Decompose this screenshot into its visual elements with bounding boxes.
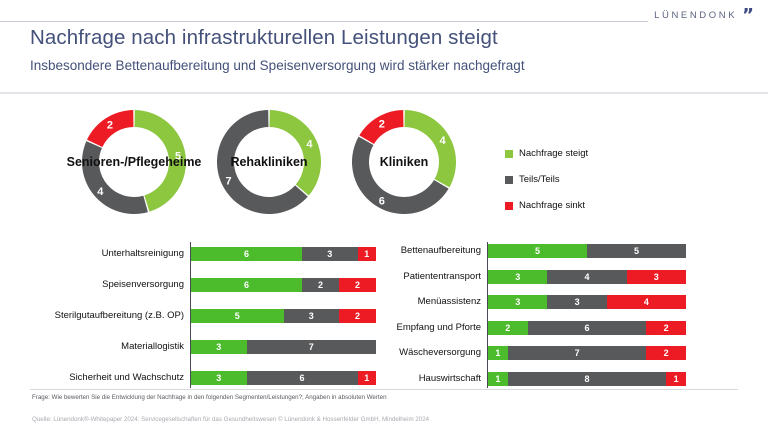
bar-segment: 1 <box>488 346 508 360</box>
legend-item-teils-teils: Teils/Teils <box>505 174 588 185</box>
bar-segment: 3 <box>284 309 340 323</box>
bar-row: 172 <box>488 346 686 360</box>
bar-category-label: Bettenaufbereitung <box>386 244 481 258</box>
donut-chart-rehakliniken: 47 Rehakliniken <box>215 108 323 216</box>
bar-segment: 2 <box>339 278 376 292</box>
bar-segment: 2 <box>339 309 376 323</box>
bar-segment: 3 <box>191 340 247 354</box>
bar-segment: 3 <box>191 371 247 385</box>
bar-row: 361 <box>191 371 376 385</box>
bar-row: 55 <box>488 244 686 258</box>
bar-category-label: Empfang und Pforte <box>386 321 481 335</box>
bar-segment: 6 <box>191 278 302 292</box>
page-title: Nachfrage nach infrastrukturellen Leistu… <box>30 26 498 50</box>
donut-chart-kliniken: 462 Kliniken <box>350 108 458 216</box>
bar-row: 334 <box>488 295 686 309</box>
bar-segment: 7 <box>247 340 377 354</box>
donut-slice-value: 7 <box>225 175 231 187</box>
bar-segment: 2 <box>646 321 686 335</box>
bar-category-label: Hauswirtschaft <box>386 372 481 386</box>
donut-slice-value: 6 <box>379 196 385 208</box>
page-subtitle: Insbesondere Bettenaufbereitung und Spei… <box>30 58 525 73</box>
legend-item-nachfrage-sinkt: Nachfrage sinkt <box>505 200 588 211</box>
bar-segment: 3 <box>488 295 547 309</box>
bar-segment: 4 <box>547 270 626 284</box>
donut-slice-0 <box>405 110 456 187</box>
donut-slice-value: 4 <box>439 135 446 147</box>
footnote-divider <box>30 389 738 390</box>
logo-wordmark: LÜNENDONK <box>654 10 737 21</box>
donut-slice-1 <box>352 137 449 214</box>
bar-chart-left: Unterhaltsreinigung631Speisenversorgung6… <box>0 240 386 390</box>
legend-label-nachfrage-steigt: Nachfrage steigt <box>519 148 588 159</box>
bar-category-label: Materiallogistik <box>0 340 184 354</box>
bar-segment: 2 <box>302 278 339 292</box>
bar-category-label: Patiententransport <box>386 270 481 284</box>
legend-swatch-green <box>505 150 513 158</box>
bar-category-label: Unterhaltsreinigung <box>0 247 184 261</box>
bar-row: 262 <box>488 321 686 335</box>
bar-segment: 2 <box>646 346 686 360</box>
bar-segment: 1 <box>358 371 377 385</box>
legend-swatch-gray <box>505 176 513 184</box>
bar-row: 343 <box>488 270 686 284</box>
donut-slice-value: 5 <box>175 151 181 163</box>
bar-row: 37 <box>191 340 376 354</box>
header-divider <box>0 21 648 22</box>
bar-chart-right: Bettenaufbereitung55Patiententransport34… <box>386 240 768 390</box>
bar-segment: 1 <box>358 247 377 261</box>
donut-chart-senioren-pflegeheime: 542 Senioren-/Pflegeheime <box>80 108 188 216</box>
bar-segment: 5 <box>488 244 587 258</box>
bar-segment: 5 <box>587 244 686 258</box>
bar-category-label: Speisenversorgung <box>0 278 184 292</box>
bar-segment: 7 <box>508 346 647 360</box>
bar-segment: 3 <box>302 247 358 261</box>
bar-category-label: Sterilgutaufbereitung (z.B. OP) <box>0 309 184 323</box>
bar-segment: 3 <box>488 270 547 284</box>
bar-segment: 1 <box>666 372 686 386</box>
bar-segment: 6 <box>191 247 302 261</box>
bar-segment: 8 <box>508 372 666 386</box>
donut-slice-value: 4 <box>306 139 313 151</box>
bar-row: 631 <box>191 247 376 261</box>
lunendonk-logo: LÜNENDONK ” <box>654 10 754 21</box>
bar-row: 622 <box>191 278 376 292</box>
footnote-question: Frage: Wie bewerten Sie die Entwicklung … <box>32 394 387 401</box>
bar-segment: 5 <box>191 309 284 323</box>
subtitle-divider <box>0 92 768 94</box>
chart-legend: Nachfrage steigt Teils/Teils Nachfrage s… <box>505 148 588 226</box>
bar-segment: 4 <box>607 295 686 309</box>
donut-slice-value: 2 <box>107 120 113 132</box>
donut-slice-1 <box>82 141 148 214</box>
bar-segment: 3 <box>547 295 606 309</box>
bar-segment: 3 <box>627 270 686 284</box>
bar-row: 181 <box>488 372 686 386</box>
bar-segment: 1 <box>488 372 508 386</box>
donut-chart-group: 542 Senioren-/Pflegeheime 47 Rehaklinike… <box>0 108 500 220</box>
donut-slice-value: 2 <box>379 118 385 130</box>
legend-label-nachfrage-sinkt: Nachfrage sinkt <box>519 200 585 211</box>
legend-item-nachfrage-steigt: Nachfrage steigt <box>505 148 588 159</box>
legend-swatch-red <box>505 202 513 210</box>
donut-slice-0 <box>270 110 321 195</box>
bar-segment: 2 <box>488 321 528 335</box>
bar-category-label: Menüassistenz <box>386 295 481 309</box>
footnote-source: Quelle: Lünendonk®-Whitepaper 2024: Serv… <box>32 416 429 423</box>
axis-line-right <box>487 242 488 388</box>
bar-row: 532 <box>191 309 376 323</box>
bar-segment: 6 <box>247 371 358 385</box>
bar-category-label: Wäscheversorgung <box>386 346 481 360</box>
bar-category-label: Sicherheit und Wachschutz <box>0 371 184 385</box>
donut-slice-value: 4 <box>97 186 104 198</box>
bar-segment: 6 <box>528 321 647 335</box>
legend-label-teils-teils: Teils/Teils <box>519 174 560 185</box>
logo-quote-icon: ” <box>742 11 754 21</box>
